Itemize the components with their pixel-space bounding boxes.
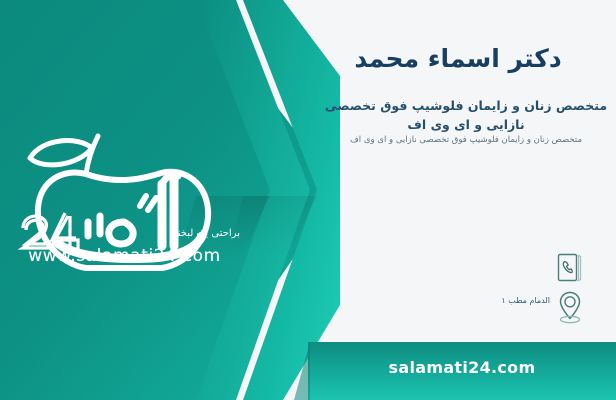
doctor-name: دکتر اسماء محمد xyxy=(324,44,592,74)
footer-bar: salamati24.com xyxy=(308,342,616,400)
brand-panel: براحتی یک لبخند www.salamati24.com xyxy=(0,0,340,400)
location-pin-icon xyxy=(554,290,586,324)
logo-number-24 xyxy=(23,213,78,250)
footer-site[interactable]: salamati24.com xyxy=(308,358,616,377)
logo-url: www.salamati24.com xyxy=(22,246,227,266)
doctor-profile-card: براحتی یک لبخند www.salamati24.com دکتر … xyxy=(0,0,616,400)
phonebook-button[interactable] xyxy=(556,252,584,284)
location-label: الدمام مطب ۱ xyxy=(501,296,550,305)
doctor-specialty: متخصص زنان و زایمان فلوشیپ فوق تخصصی ناز… xyxy=(324,96,608,135)
location-button[interactable] xyxy=(554,290,586,324)
info-pane: دکتر اسماء محمد متخصص زنان و زایمان فلوش… xyxy=(316,0,616,400)
logo-tagline: براحتی یک لبخند xyxy=(108,228,240,239)
phonebook-icon xyxy=(556,252,584,284)
doctor-specialty-secondary: متخصص زنان و زایمان فلوشیپ فوق تخصصی ناز… xyxy=(324,133,608,147)
